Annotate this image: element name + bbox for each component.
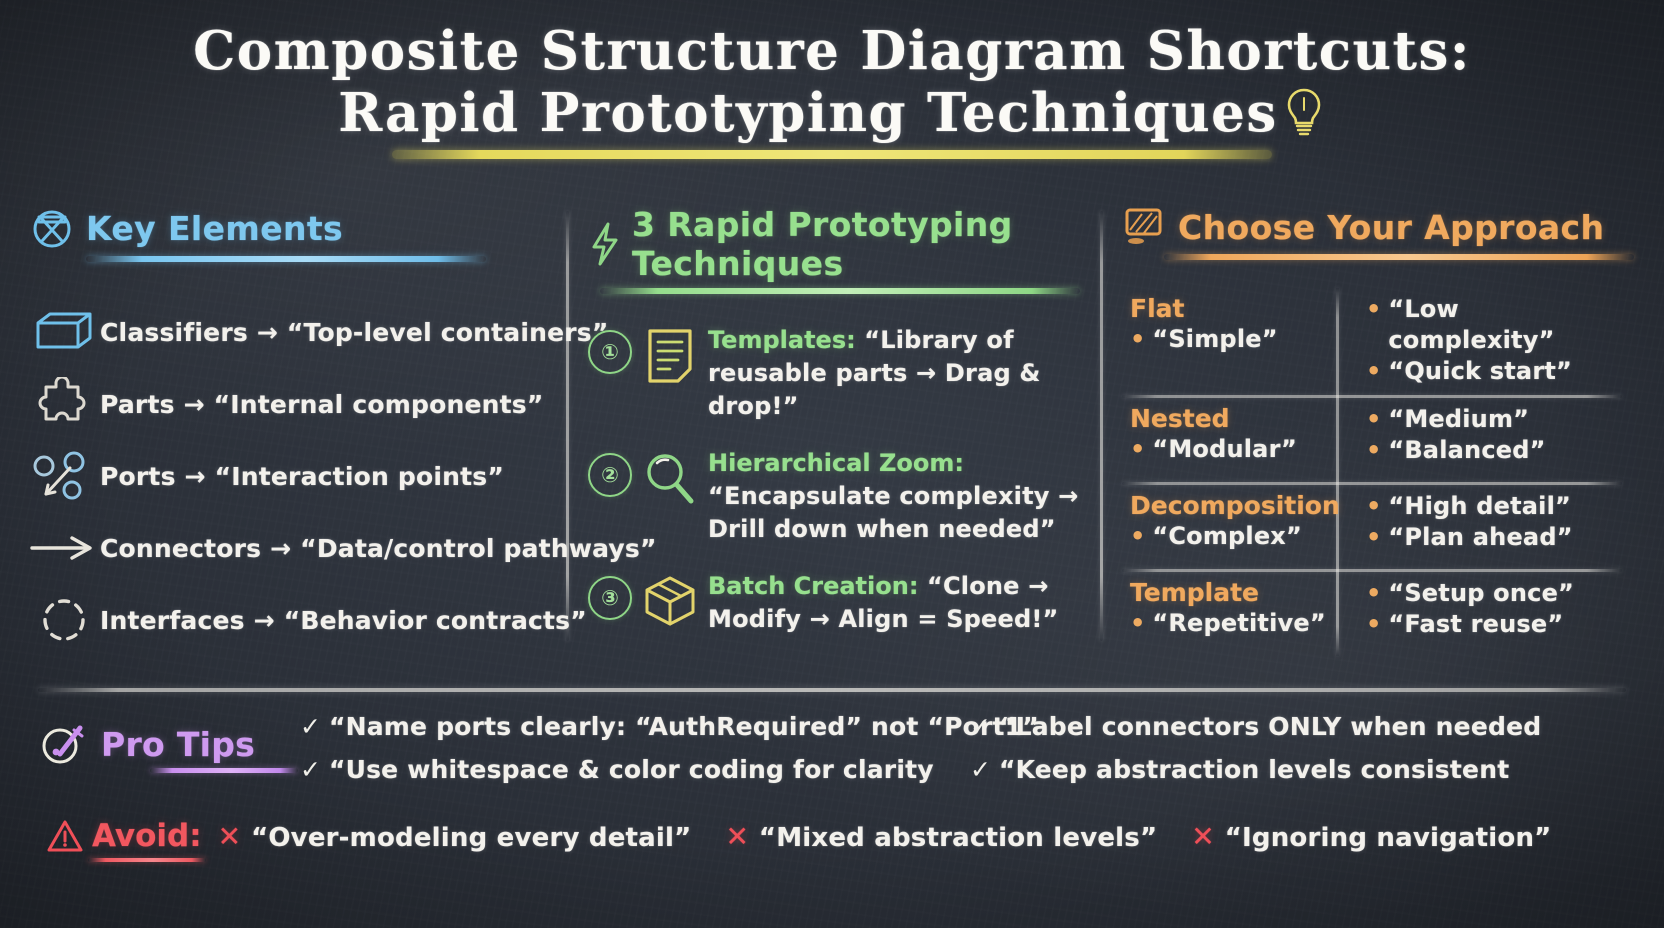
table-cell-benefits: •“Low complexity” •“Quick start” xyxy=(1348,288,1622,395)
table-row: Decomposition •“Complex” •“High detail” … xyxy=(1122,485,1622,569)
benefit-bullet: •“High detail” xyxy=(1366,491,1622,522)
bullet-dot: • xyxy=(1130,608,1145,639)
bullet-dot: • xyxy=(1366,294,1381,325)
approach-bullet: •“Complex” xyxy=(1130,521,1348,552)
pro-tip-text: “Label connectors ONLY when needed xyxy=(999,710,1541,744)
table-row: Template •“Repetitive” •“Setup once” •“F… xyxy=(1122,572,1622,656)
section-divider xyxy=(38,688,1626,692)
title-underline xyxy=(392,150,1272,159)
list-item-label: Interfaces → “Behavior contracts” xyxy=(100,606,587,635)
column-divider-1 xyxy=(566,211,569,641)
list-item: ✓ “Keep abstraction levels consistent xyxy=(970,753,1630,787)
column-divider-2 xyxy=(1100,211,1103,641)
avoid-heading: Avoid: xyxy=(92,818,202,854)
avoid-underline xyxy=(88,858,206,862)
avoid-text: “Over-modeling every detail” xyxy=(251,823,691,853)
benefit-bullet: •“Setup once” xyxy=(1366,578,1622,609)
check-icon: ✓ xyxy=(300,753,321,787)
title-line-2: Rapid Prototyping Techniques xyxy=(338,82,1277,144)
title-line-2-wrap: Rapid Prototyping Techniques xyxy=(338,82,1325,144)
bullet-dot: • xyxy=(1366,356,1381,387)
approach-header: Choose Your Approach xyxy=(1122,205,1638,249)
table-cell-approach: Flat •“Simple” xyxy=(1122,288,1348,395)
technique-number: ② xyxy=(588,453,632,497)
table-cell-approach: Template •“Repetitive” xyxy=(1122,572,1348,656)
document-lines-icon xyxy=(632,324,708,388)
list-item-label: Ports → “Interaction points” xyxy=(100,462,504,491)
list-item: ② Hierarchical Zoom: “Encapsulate comple… xyxy=(588,447,1088,546)
list-item-label: Parts → “Internal components” xyxy=(100,390,543,419)
x-icon: ✕ xyxy=(218,820,241,853)
x-icon: ✕ xyxy=(1191,820,1214,853)
key-elements-heading: Key Elements xyxy=(86,209,343,248)
column-techniques: 3 Rapid Prototyping Techniques ① Templat… xyxy=(588,205,1088,660)
bullet-dot: • xyxy=(1366,435,1381,466)
check-icon: ✓ xyxy=(970,753,991,787)
table-cell-benefits: •“High detail” •“Plan ahead” xyxy=(1348,485,1622,569)
x-icon: ✕ xyxy=(725,820,748,853)
approach-heading: Choose Your Approach xyxy=(1178,208,1604,247)
bullet-dot: • xyxy=(1366,522,1381,553)
bullet-dot: • xyxy=(1130,434,1145,465)
list-item-label: Classifiers → “Top-level containers” xyxy=(100,318,609,347)
table-cell-benefits: •“Setup once” •“Fast reuse” xyxy=(1348,572,1622,656)
dashed-circle-icon xyxy=(28,594,100,646)
benefit-label: “Quick start” xyxy=(1388,356,1572,387)
techniques-header: 3 Rapid Prototyping Techniques xyxy=(588,205,1088,283)
table-cell-benefits: •“Medium” •“Balanced” xyxy=(1348,398,1622,482)
warning-triangle-icon xyxy=(46,818,84,854)
list-item: ✕ “Mixed abstraction levels” xyxy=(725,820,1157,853)
table-cell-approach: Decomposition •“Complex” xyxy=(1122,485,1348,569)
list-item: Ports → “Interaction points” xyxy=(28,440,558,512)
approach-name: Nested xyxy=(1130,404,1348,434)
pro-tips-section: Pro Tips ✓ “Name ports clearly: “AuthReq… xyxy=(40,706,1630,787)
technique-body: Batch Creation: “Clone → Modify → Align … xyxy=(708,570,1088,636)
list-item: ③ Batch Creation: “Clone → Modify → Alig… xyxy=(588,570,1088,636)
key-elements-icon xyxy=(28,205,76,251)
approach-name: Template xyxy=(1130,578,1348,608)
techniques-list: ① Templates: “Library of reusable parts … xyxy=(588,324,1088,636)
arrow-right-icon xyxy=(28,533,100,563)
bullet-dot: • xyxy=(1366,404,1381,435)
list-item-label: Connectors → “Data/control pathways” xyxy=(100,534,657,563)
technique-lead: Hierarchical Zoom: xyxy=(708,449,964,477)
check-icon: ✓ xyxy=(300,710,321,744)
list-item: Parts → “Internal components” xyxy=(28,368,558,440)
approach-bullet-label: “Modular” xyxy=(1152,434,1297,465)
benefit-bullet: •“Quick start” xyxy=(1366,356,1622,387)
chalkboard-icon xyxy=(1122,205,1168,249)
technique-text: “Encapsulate complexity → Drill down whe… xyxy=(708,482,1078,543)
approach-bullet-label: “Simple” xyxy=(1152,324,1277,355)
column-key-elements: Key Elements Classifiers → “Top-level co… xyxy=(28,205,558,660)
benefit-label: “Plan ahead” xyxy=(1388,522,1572,553)
techniques-heading: 3 Rapid Prototyping Techniques xyxy=(632,205,1088,283)
benefit-label: “Low complexity” xyxy=(1388,294,1622,356)
benefit-label: “Fast reuse” xyxy=(1388,609,1563,640)
table-row: Nested •“Modular” •“Medium” •“Balanced” xyxy=(1122,398,1622,482)
benefit-bullet: •“Plan ahead” xyxy=(1366,522,1622,553)
chalkboard-canvas: Composite Structure Diagram Shortcuts: R… xyxy=(0,0,1664,928)
column-approach: Choose Your Approach Flat •“Simple” •“Lo… xyxy=(1122,205,1638,660)
title-block: Composite Structure Diagram Shortcuts: R… xyxy=(0,20,1664,159)
approach-bullet: •“Repetitive” xyxy=(1130,608,1348,639)
bullet-dot: • xyxy=(1130,324,1145,355)
three-column-section: Key Elements Classifiers → “Top-level co… xyxy=(0,205,1664,665)
benefit-bullet: •“Fast reuse” xyxy=(1366,609,1622,640)
list-item: ✕ “Ignoring navigation” xyxy=(1191,820,1551,853)
key-elements-header: Key Elements xyxy=(28,205,558,251)
title-line-1: Composite Structure Diagram Shortcuts: xyxy=(0,20,1664,82)
benefit-bullet: •“Medium” xyxy=(1366,404,1622,435)
pro-tips-label-group: Pro Tips xyxy=(40,706,300,768)
pro-tip-text: “Use whitespace & color coding for clari… xyxy=(329,753,934,787)
list-item: Connectors → “Data/control pathways” xyxy=(28,512,558,584)
list-item: ✓ “Use whitespace & color coding for cla… xyxy=(300,753,970,787)
table-row: Flat •“Simple” •“Low complexity” •“Quick… xyxy=(1122,288,1622,395)
techniques-underline xyxy=(600,288,1080,294)
list-item: Interfaces → “Behavior contracts” xyxy=(28,584,558,656)
puzzle-piece-icon xyxy=(28,377,100,431)
approach-bullet-label: “Repetitive” xyxy=(1152,608,1325,639)
check-icon: ✓ xyxy=(970,710,991,744)
approach-bullet-label: “Complex” xyxy=(1152,521,1302,552)
list-item: ✓ “Name ports clearly: “AuthRequired” no… xyxy=(300,710,970,744)
bullet-dot: • xyxy=(1130,521,1145,552)
classifier-box-icon xyxy=(28,309,100,355)
key-elements-underline xyxy=(86,256,486,262)
list-item: ✓ “Label connectors ONLY when needed xyxy=(970,710,1630,744)
benefit-label: “Setup once” xyxy=(1388,578,1574,609)
lightning-bolt-icon xyxy=(588,221,622,267)
benefit-label: “Balanced” xyxy=(1388,435,1545,466)
benefit-label: “Medium” xyxy=(1388,404,1529,435)
approach-table: Flat •“Simple” •“Low complexity” •“Quick… xyxy=(1122,288,1622,656)
approach-name: Flat xyxy=(1130,294,1348,324)
technique-body: Hierarchical Zoom: “Encapsulate complexi… xyxy=(708,447,1088,546)
pro-tip-text: “Name ports clearly: “AuthRequired” not … xyxy=(329,710,1039,744)
pro-tips-heading: Pro Tips xyxy=(101,725,255,764)
approach-bullet: •“Modular” xyxy=(1130,434,1348,465)
technique-lead: Templates: xyxy=(708,326,856,354)
benefit-bullet: •“Low complexity” xyxy=(1366,294,1622,356)
technique-number: ③ xyxy=(588,576,632,620)
table-cell-approach: Nested •“Modular” xyxy=(1122,398,1348,482)
technique-lead: Batch Creation: xyxy=(708,572,918,600)
pro-tip-text: “Keep abstraction levels consistent xyxy=(999,753,1509,787)
approach-underline xyxy=(1164,254,1634,260)
box-package-icon xyxy=(632,570,708,630)
benefit-label: “High detail” xyxy=(1388,491,1571,522)
bullet-dot: • xyxy=(1366,609,1381,640)
list-item: Classifiers → “Top-level containers” xyxy=(28,296,558,368)
bullet-dot: • xyxy=(1366,578,1381,609)
pro-tips-icon xyxy=(40,720,92,768)
benefit-bullet: •“Balanced” xyxy=(1366,435,1622,466)
technique-body: Templates: “Library of reusable parts → … xyxy=(708,324,1088,423)
ports-nodes-icon xyxy=(28,448,100,504)
key-elements-list: Classifiers → “Top-level containers” Par… xyxy=(28,296,558,656)
list-item: ✕ “Over-modeling every detail” xyxy=(218,820,692,853)
bullet-dot: • xyxy=(1366,491,1381,522)
pro-tips-column-b: ✓ “Label connectors ONLY when needed ✓ “… xyxy=(970,706,1630,787)
avoid-text: “Ignoring navigation” xyxy=(1225,823,1552,853)
avoid-section: Avoid: ✕ “Over-modeling every detail” ✕ … xyxy=(46,818,1585,854)
pro-tips-column-a: ✓ “Name ports clearly: “AuthRequired” no… xyxy=(300,706,970,787)
magnifier-icon xyxy=(632,447,708,511)
approach-name: Decomposition xyxy=(1130,491,1348,521)
lightbulb-icon xyxy=(1282,85,1326,137)
list-item: ① Templates: “Library of reusable parts … xyxy=(588,324,1088,423)
avoid-label-group: Avoid: xyxy=(46,818,202,854)
avoid-text: “Mixed abstraction levels” xyxy=(759,823,1157,853)
approach-bullet: •“Simple” xyxy=(1130,324,1348,355)
pro-tips-underline xyxy=(150,768,298,773)
technique-number: ① xyxy=(588,330,632,374)
